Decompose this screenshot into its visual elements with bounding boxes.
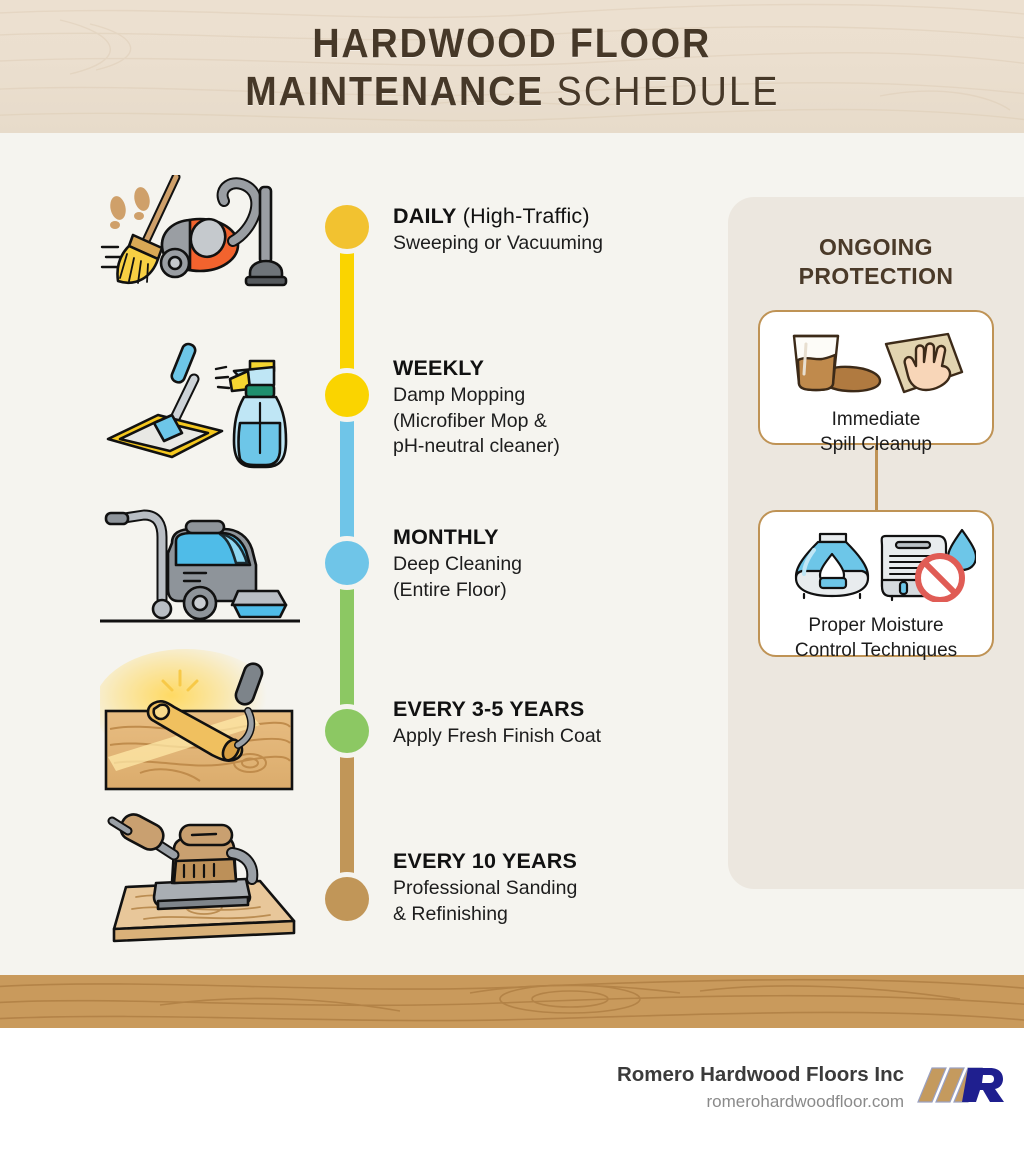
step-heading-rest: (High-Traffic) (457, 204, 590, 228)
timeline-step-every-3-5-years: EVERY 3-5 YEARS Apply Fresh Finish Coat (393, 696, 601, 750)
page-title-line-2: MAINTENANCE SCHEDULE (245, 68, 779, 114)
timeline-dot-daily[interactable] (325, 205, 369, 249)
step-detail-monthly: Deep Cleaning (Entire Floor) (393, 552, 522, 603)
timeline-dot-every-10-years[interactable] (325, 877, 369, 921)
infographic-page: HARDWOOD FLOOR MAINTENANCE SCHEDULE (0, 0, 1024, 1154)
step-heading-bold: EVERY 10 YEARS (393, 849, 577, 873)
page-title-line-1: HARDWOOD FLOOR (313, 20, 712, 66)
icon-floor-scrubber-machine (100, 503, 300, 638)
timeline-dot-every-3-5-years[interactable] (325, 709, 369, 753)
page-title-schedule: SCHEDULE (556, 68, 779, 114)
step-heading-bold: MONTHLY (393, 525, 499, 549)
timeline-dot-monthly[interactable] (325, 541, 369, 585)
step-detail-every-3-5-years: Apply Fresh Finish Coat (393, 724, 601, 750)
step-heading-bold: DAILY (393, 204, 457, 228)
step-detail-every-10-years: Professional Sanding & Refinishing (393, 876, 577, 927)
wood-footer-band (0, 975, 1024, 1028)
icon-spilled-glass-and-wiping-hand (776, 326, 976, 401)
step-heading-monthly: MONTHLY (393, 524, 522, 550)
header-banner: HARDWOOD FLOOR MAINTENANCE SCHEDULE (0, 0, 1024, 133)
protection-card-label-moisture-control: Proper Moisture Control Techniques (789, 613, 963, 677)
page-title-maintenance: MAINTENANCE (245, 68, 556, 114)
footer-bar (0, 1028, 1024, 1154)
step-heading-every-3-5-years: EVERY 3-5 YEARS (393, 696, 601, 722)
step-heading-daily: DAILY (High-Traffic) (393, 203, 603, 229)
icon-finish-roller-on-wood (100, 645, 300, 800)
step-detail-weekly: Damp Mopping (Microfiber Mop & pH-neutra… (393, 383, 560, 460)
icon-orbital-sander-on-plank (100, 805, 300, 950)
timeline-segment-3-5-10 (340, 731, 354, 901)
step-heading-every-10-years: EVERY 10 YEARS (393, 848, 577, 874)
icon-broom-vacuum-footprints (100, 175, 300, 305)
panel-title: ONGOING PROTECTION (728, 233, 1024, 291)
step-heading-weekly: WEEKLY (393, 355, 560, 381)
timeline-step-monthly: MONTHLY Deep Cleaning (Entire Floor) (393, 524, 522, 603)
wood-band-grain (0, 975, 1024, 1028)
step-heading-bold: EVERY 3-5 YEARS (393, 697, 584, 721)
header-title-block: HARDWOOD FLOOR MAINTENANCE SCHEDULE (0, 0, 1024, 133)
protection-card-moisture-control[interactable]: Proper Moisture Control Techniques (758, 510, 994, 657)
timeline-step-daily: DAILY (High-Traffic) Sweeping or Vacuumi… (393, 203, 603, 257)
ongoing-protection-panel: ONGOING PROTECTION (728, 197, 1024, 889)
step-detail-daily: Sweeping or Vacuuming (393, 231, 603, 257)
company-website[interactable]: romerohardwoodfloor.com (707, 1092, 904, 1112)
protection-card-label-spill-cleanup: Immediate Spill Cleanup (814, 407, 938, 471)
timeline-step-every-10-years: EVERY 10 YEARS Professional Sanding & Re… (393, 848, 577, 927)
icon-humidifier-dehumidifier-no-moisture (776, 526, 976, 607)
protection-card-spill-cleanup[interactable]: Immediate Spill Cleanup (758, 310, 994, 445)
main-canvas: DAILY (High-Traffic) Sweeping or Vacuumi… (0, 133, 1024, 975)
timeline-dot-weekly[interactable] (325, 373, 369, 417)
romero-r-planks-logo[interactable] (916, 1062, 1004, 1111)
icon-mop-spray-bottle (98, 341, 298, 478)
company-name: Romero Hardwood Floors Inc (617, 1063, 904, 1087)
step-heading-bold: WEEKLY (393, 356, 484, 380)
timeline-step-weekly: WEEKLY Damp Mopping (Microfiber Mop & pH… (393, 355, 560, 460)
